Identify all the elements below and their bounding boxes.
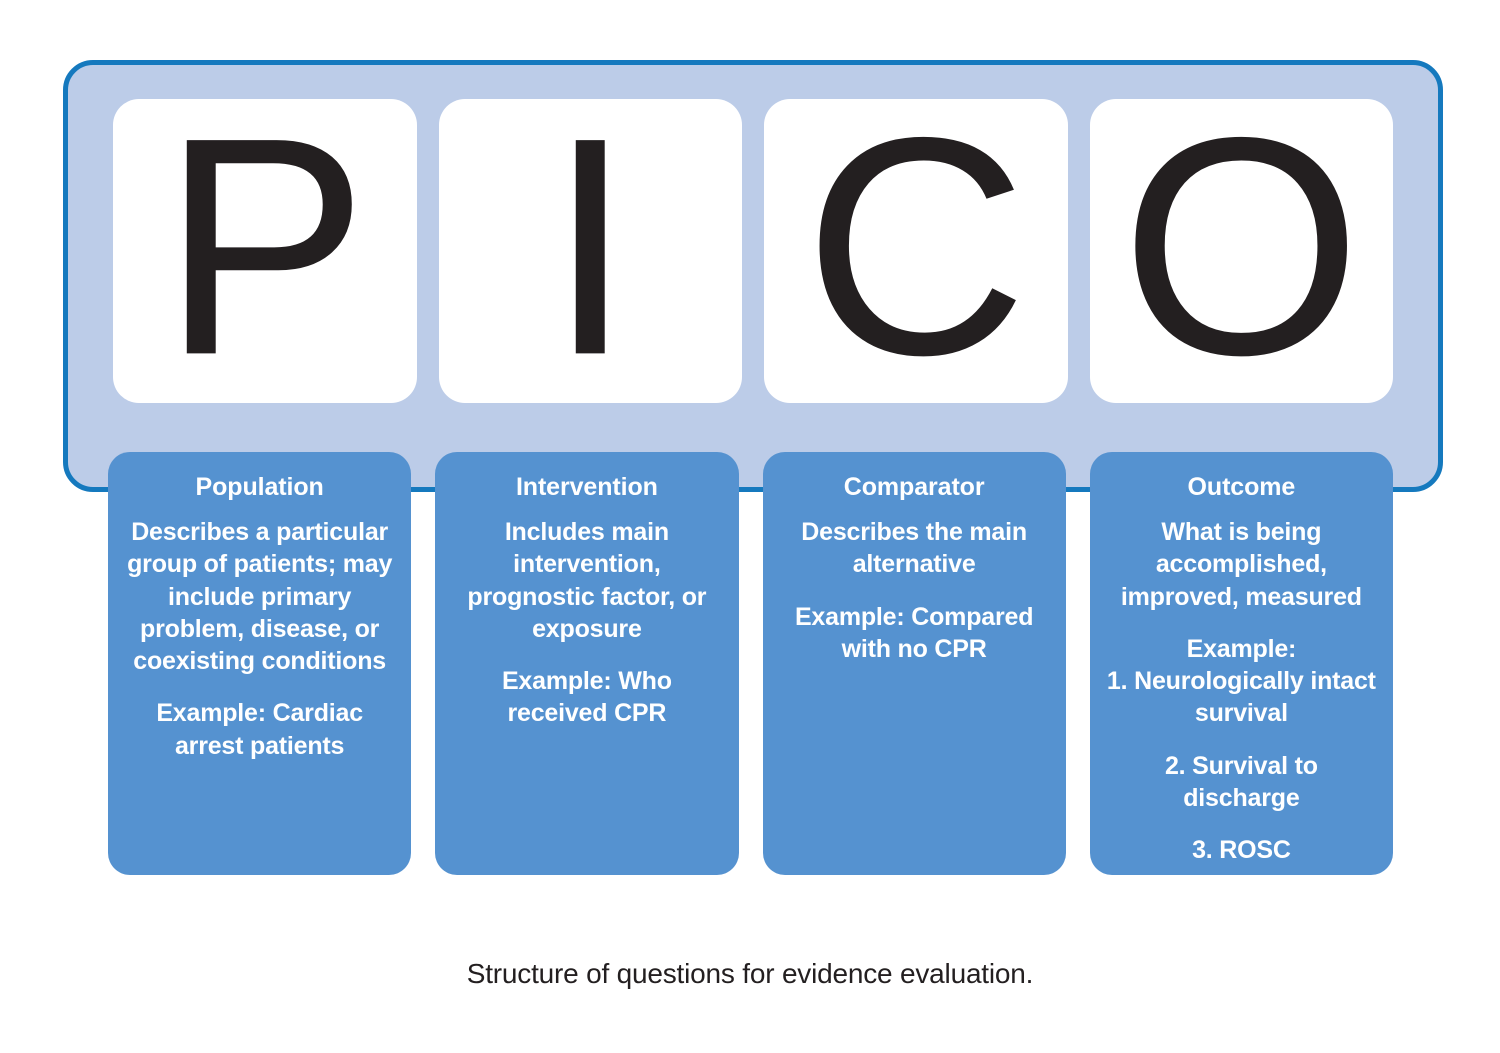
card-example-outcome-2: 2. Survival to discharge	[1104, 750, 1379, 815]
card-example-comparator: Example: Compared with no CPR	[777, 601, 1052, 666]
pico-card-intervention: Intervention Includes main intervention,…	[435, 452, 738, 875]
pico-card-comparator: Comparator Describes the main alternativ…	[763, 452, 1066, 875]
pico-figure: P I C O Population Describes a particula…	[0, 0, 1500, 1053]
pico-card-outcome: Outcome What is being accomplished, impr…	[1090, 452, 1393, 875]
pico-card-row: Population Describes a particular group …	[108, 452, 1393, 875]
card-title-outcome: Outcome	[1104, 472, 1379, 502]
card-description-intervention: Includes main intervention, prognostic f…	[449, 516, 724, 645]
figure-caption: Structure of questions for evidence eval…	[0, 958, 1500, 990]
letter-tile-o: O	[1090, 99, 1394, 403]
letter-i-glyph: I	[547, 125, 633, 367]
card-description-outcome: What is being accomplished, improved, me…	[1104, 516, 1379, 613]
card-title-intervention: Intervention	[449, 472, 724, 502]
letter-o-glyph: O	[1121, 125, 1362, 367]
card-example-intervention: Example: Who received CPR	[449, 665, 724, 730]
letter-c-glyph: C	[804, 125, 1028, 367]
card-title-comparator: Comparator	[777, 472, 1052, 502]
card-example-outcome-1: Example: 1. Neurologically intact surviv…	[1104, 633, 1379, 730]
pico-card-population: Population Describes a particular group …	[108, 452, 411, 875]
letter-tile-p: P	[113, 99, 417, 403]
letter-p-glyph: P	[161, 125, 368, 367]
card-example-outcome-3: 3. ROSC	[1104, 834, 1379, 866]
letter-tile-i: I	[439, 99, 743, 403]
letter-tile-c: C	[764, 99, 1068, 403]
pico-letter-row: P I C O	[113, 99, 1393, 403]
card-description-population: Describes a particular group of patients…	[122, 516, 397, 677]
card-title-population: Population	[122, 472, 397, 502]
card-description-comparator: Describes the main alternative	[777, 516, 1052, 581]
card-example-population: Example: Cardiac arrest patients	[122, 697, 397, 762]
